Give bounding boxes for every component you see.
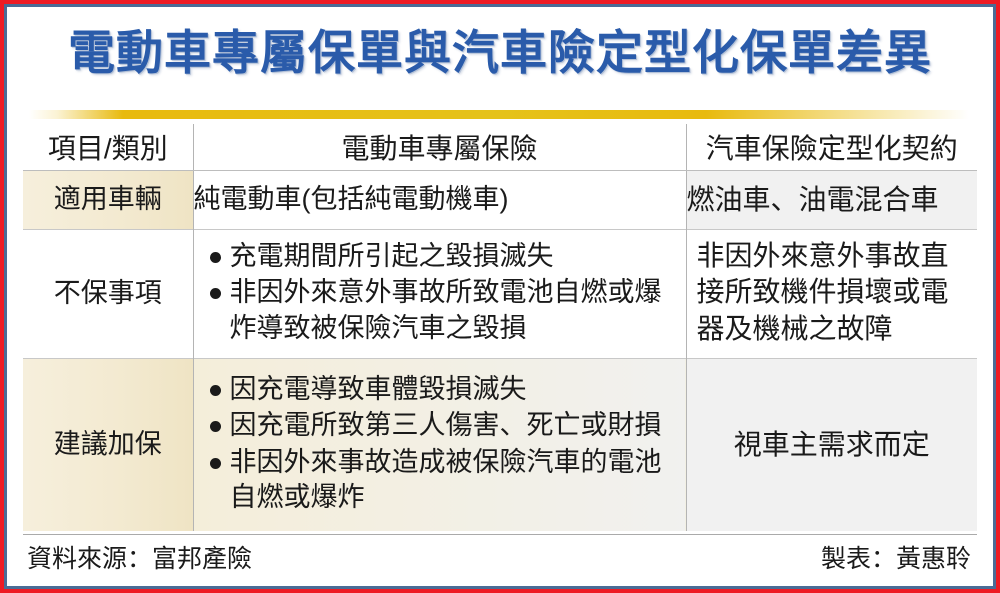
table-row: 建議加保 因充電導致車體毀損滅失 因充電所致第三人傷害、死亡或財損 非因外來事故…	[23, 359, 977, 532]
row-label-exclusions: 不保事項	[23, 230, 193, 359]
table-header-row: 項目/類別 電動車專屬保險 汽車保險定型化契約	[23, 124, 977, 171]
list-item: 非因外來意外事故所致電池自燃或爆炸導致被保險汽車之毀損	[208, 275, 676, 345]
cell-ev-recommended-coverage: 因充電導致車體毀損滅失 因充電所致第三人傷害、死亡或財損 非因外來事故造成被保險…	[193, 359, 686, 532]
comparison-table: 項目/類別 電動車專屬保險 汽車保險定型化契約 適用車輛 純電動車(包括純電動機…	[23, 124, 977, 531]
infographic-body: 電動車專屬保單與汽車險定型化保單差異 項目/類別 電動車專屬保險 汽車保險定型化…	[7, 7, 993, 586]
row-label-applicable-vehicles: 適用車輛	[23, 171, 193, 230]
list-item: 充電期間所引起之毀損滅失	[208, 239, 676, 274]
cell-ice-applicable-vehicles: 燃油車、油電混合車	[686, 171, 977, 230]
footer: 資料來源：富邦產險 製表：黃惠聆	[23, 534, 977, 579]
text-line: 器及機械之故障	[697, 311, 970, 347]
cell-ice-recommended-coverage: 視車主需求而定	[686, 359, 977, 532]
table-row: 適用車輛 純電動車(包括純電動機車) 燃油車、油電混合車	[23, 171, 977, 230]
row-label-recommended-coverage: 建議加保	[23, 359, 193, 532]
page-title: 電動車專屬保單與汽車險定型化保單差異	[68, 29, 932, 76]
text-line: 非因外來意外事故直	[697, 238, 970, 274]
header-col2: 電動車專屬保險	[193, 124, 686, 171]
cell-ice-exclusions: 非因外來意外事故直 接所致機件損壞或電 器及機械之故障	[686, 230, 977, 359]
title-banner: 電動車專屬保單與汽車險定型化保單差異	[7, 7, 993, 97]
bullet-list-ev-exclusions: 充電期間所引起之毀損滅失 非因外來意外事故所致電池自燃或爆炸導致被保險汽車之毀損	[208, 239, 676, 345]
credit-label: 製表：黃惠聆	[821, 539, 977, 575]
header-col1: 項目/類別	[23, 124, 193, 171]
source-label: 資料來源：富邦產險	[23, 539, 252, 575]
table-row: 不保事項 充電期間所引起之毀損滅失 非因外來意外事故所致電池自燃或爆炸導致被保險…	[23, 230, 977, 359]
cell-ev-exclusions: 充電期間所引起之毀損滅失 非因外來意外事故所致電池自燃或爆炸導致被保險汽車之毀損	[193, 230, 686, 359]
text-line: 接所致機件損壞或電	[697, 274, 970, 310]
bullet-list-ev-recommended: 因充電導致車體毀損滅失 因充電所致第三人傷害、死亡或財損 非因外來事故造成被保險…	[208, 372, 676, 514]
cell-ev-applicable-vehicles: 純電動車(包括純電動機車)	[193, 171, 686, 230]
list-item: 非因外來事故造成被保險汽車的電池自燃或爆炸	[208, 445, 676, 515]
gold-rule	[29, 110, 969, 119]
list-item: 因充電導致車體毀損滅失	[208, 372, 676, 407]
header-col3: 汽車保險定型化契約	[686, 124, 977, 171]
list-item: 因充電所致第三人傷害、死亡或財損	[208, 408, 676, 443]
